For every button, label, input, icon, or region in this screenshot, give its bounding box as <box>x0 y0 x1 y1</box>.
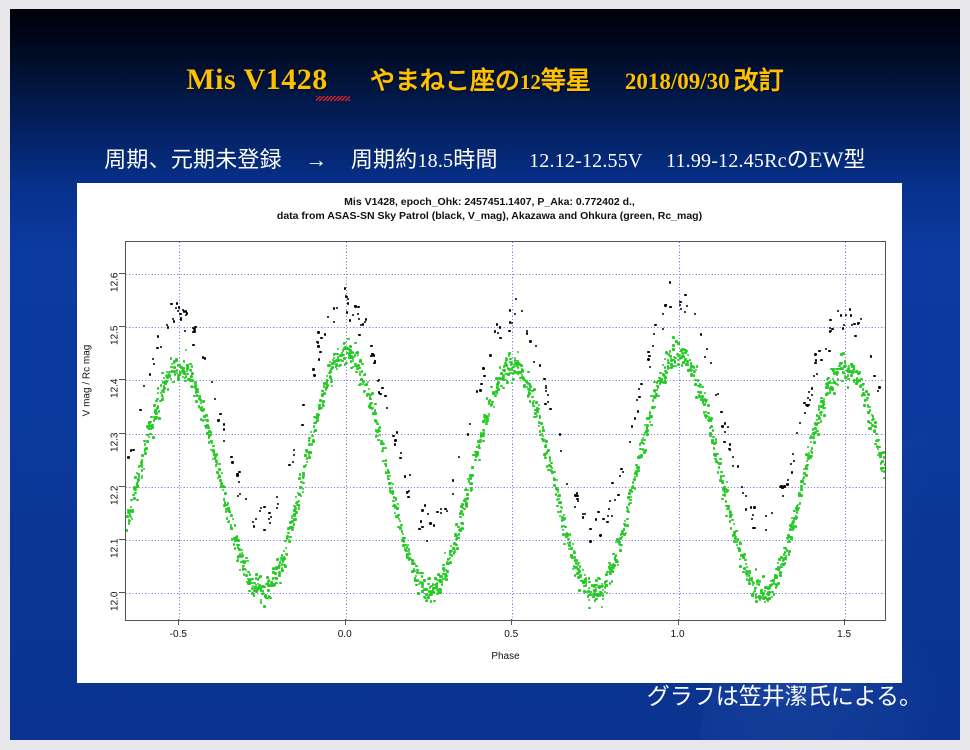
scatter-point <box>126 529 129 532</box>
scatter-point <box>143 468 146 471</box>
scatter-point <box>631 487 634 490</box>
scatter-point <box>810 435 813 438</box>
scatter-point <box>864 399 867 402</box>
scatter-point <box>348 348 351 351</box>
scatter-point <box>785 557 788 560</box>
scatter-point <box>461 522 464 525</box>
scatter-point <box>712 429 715 432</box>
scatter-point <box>394 512 397 515</box>
scatter-point <box>767 591 770 594</box>
scatter-point <box>835 371 838 374</box>
scatter-point <box>755 600 758 603</box>
scatter-point <box>868 411 871 414</box>
scatter-point <box>248 579 251 582</box>
scatter-point <box>361 378 364 381</box>
scatter-point <box>452 479 454 481</box>
scatter-point <box>213 453 216 456</box>
scatter-point <box>364 390 367 393</box>
scatter-point <box>799 422 801 424</box>
scatter-point <box>769 584 772 587</box>
scatter-point <box>569 541 572 544</box>
scatter-point <box>865 390 868 393</box>
scatter-point <box>777 569 780 572</box>
scatter-point <box>716 453 719 456</box>
scatter-point <box>734 531 737 534</box>
scatter-point <box>128 522 131 525</box>
scatter-point <box>258 587 261 590</box>
scatter-point <box>387 475 390 478</box>
scatter-point <box>669 355 672 358</box>
scatter-point <box>389 487 392 490</box>
scatter-point <box>210 449 213 452</box>
scatter-point <box>436 593 439 596</box>
scatter-point <box>740 554 743 557</box>
scatter-point <box>514 371 517 374</box>
scatter-point <box>650 415 653 418</box>
scatter-point <box>850 371 853 374</box>
scatter-point <box>529 385 532 388</box>
scatter-point <box>253 594 256 597</box>
scatter-point <box>609 571 612 574</box>
scatter-point <box>704 356 706 358</box>
scatter-point <box>805 404 807 406</box>
scatter-point <box>430 590 433 593</box>
scatter-point <box>775 568 778 571</box>
scatter-point <box>315 421 318 424</box>
scatter-point <box>645 430 648 433</box>
scatter-point <box>597 586 600 589</box>
scatter-point <box>705 399 708 402</box>
scatter-point <box>329 376 332 379</box>
scatter-point <box>267 589 270 592</box>
scatter-point <box>723 441 725 443</box>
scatter-point <box>803 402 805 404</box>
scatter-point <box>254 582 257 585</box>
scatter-point <box>189 369 192 372</box>
scatter-point <box>476 453 479 456</box>
scatter-point <box>564 526 567 529</box>
scatter-point <box>261 585 264 588</box>
scatter-point <box>134 476 137 479</box>
scatter-point <box>775 586 778 589</box>
scatter-point <box>825 348 827 350</box>
scatter-point <box>338 365 341 368</box>
scatter-point <box>135 476 138 479</box>
scatter-point <box>523 377 526 380</box>
scatter-point <box>272 584 275 587</box>
scatter-point <box>772 580 775 583</box>
scatter-point <box>664 370 667 373</box>
scatter-point <box>362 323 364 325</box>
x-axis-tick-label: 0.5 <box>491 629 531 640</box>
scatter-point <box>182 367 185 370</box>
scatter-point <box>129 515 132 518</box>
scatter-point <box>691 369 694 372</box>
scatter-point <box>208 434 211 437</box>
y-axis-title: V mag / Rc mag <box>82 321 93 441</box>
scatter-point <box>615 541 618 544</box>
scatter-point <box>478 446 481 449</box>
scatter-point <box>248 590 251 593</box>
scatter-point <box>516 364 519 367</box>
scatter-point <box>163 381 166 384</box>
scatter-point <box>765 529 767 531</box>
presentation-slide: Mis V1428 やまねこ座の12等星 2018/09/30 改訂 周期、元期… <box>10 9 960 740</box>
scatter-point <box>875 440 878 443</box>
scatter-point <box>588 577 591 580</box>
scatter-point <box>220 482 223 485</box>
scatter-point <box>245 569 248 572</box>
scatter-point <box>528 388 531 391</box>
scatter-point <box>733 531 736 534</box>
scatter-point <box>447 558 450 561</box>
scatter-point <box>742 556 745 559</box>
scatter-point <box>724 431 726 433</box>
scatter-point <box>263 529 265 531</box>
scatter-point <box>424 588 427 591</box>
scatter-point <box>676 353 679 356</box>
scatter-point <box>356 351 359 354</box>
scatter-point <box>650 424 653 427</box>
scatter-point <box>371 353 373 355</box>
scatter-point <box>195 389 198 392</box>
scatter-point <box>187 366 190 369</box>
scatter-point <box>784 551 787 554</box>
scatter-point <box>725 515 728 518</box>
scatter-point <box>455 544 458 547</box>
scatter-point <box>578 570 581 573</box>
scatter-point <box>665 304 667 306</box>
scatter-point <box>803 483 806 486</box>
scatter-point <box>871 419 874 422</box>
scatter-point <box>442 564 445 567</box>
scatter-point <box>333 353 336 356</box>
scatter-point <box>759 597 762 600</box>
scatter-point <box>615 561 618 564</box>
scatter-point <box>319 351 321 353</box>
scatter-point <box>764 590 767 593</box>
scatter-point <box>405 550 408 553</box>
scatter-point <box>386 407 388 409</box>
scatter-point <box>214 456 217 459</box>
scatter-point <box>699 383 702 386</box>
subtitle-v-range: 12.12-12.55V <box>529 150 643 172</box>
scatter-point <box>822 403 825 406</box>
scatter-point <box>808 391 810 393</box>
scatter-point <box>866 399 869 402</box>
scatter-point <box>191 379 194 382</box>
scatter-point <box>789 528 792 531</box>
scatter-point <box>304 465 307 468</box>
scatter-point <box>512 372 515 375</box>
scatter-point <box>505 379 508 382</box>
scatter-point <box>732 534 735 537</box>
scatter-point <box>177 378 180 381</box>
scatter-point <box>848 365 851 368</box>
scatter-point <box>354 355 357 358</box>
scatter-point <box>544 403 546 405</box>
scatter-point <box>179 371 182 374</box>
scatter-point <box>528 393 531 396</box>
scatter-point <box>208 441 211 444</box>
scatter-point <box>200 407 203 410</box>
scatter-point <box>551 470 554 473</box>
scatter-point <box>544 457 547 460</box>
scatter-point <box>544 454 547 457</box>
scatter-point <box>851 364 854 367</box>
scatter-point <box>148 428 151 431</box>
scatter-point <box>567 535 570 538</box>
scatter-point <box>233 543 236 546</box>
scatter-point <box>345 295 347 297</box>
scatter-point <box>780 564 783 567</box>
scatter-point <box>439 575 442 578</box>
scatter-point <box>444 508 446 510</box>
scatter-point <box>426 599 429 602</box>
scatter-point <box>504 364 507 367</box>
scatter-point <box>484 418 487 421</box>
scatter-point <box>408 557 411 560</box>
scatter-point <box>686 350 689 353</box>
scatter-point <box>282 560 285 563</box>
scatter-point <box>459 512 462 515</box>
scatter-point <box>321 394 324 397</box>
scatter-point <box>808 452 811 455</box>
scatter-point <box>475 451 478 454</box>
scatter-point <box>406 554 409 557</box>
scatter-point <box>388 482 391 485</box>
scatter-point <box>224 492 227 495</box>
scatter-point <box>263 506 265 508</box>
scatter-point <box>560 450 562 452</box>
scatter-point <box>152 358 154 360</box>
scatter-point <box>374 403 377 406</box>
scatter-point <box>786 537 789 540</box>
scatter-point <box>419 581 422 584</box>
scatter-point <box>806 404 808 406</box>
scatter-point <box>430 594 433 597</box>
scatter-point <box>851 371 854 374</box>
scatter-point <box>800 480 803 483</box>
scatter-point <box>291 529 294 532</box>
scatter-point <box>212 445 215 448</box>
scatter-point <box>488 415 491 418</box>
x-axis-tick-mark <box>678 619 679 625</box>
scatter-point <box>157 405 160 408</box>
scatter-point <box>827 377 830 380</box>
scatter-point <box>183 360 186 363</box>
scatter-point <box>499 366 502 369</box>
scatter-point <box>212 451 215 454</box>
scatter-point <box>378 427 381 430</box>
scatter-point <box>873 375 875 377</box>
scatter-point <box>729 515 732 518</box>
scatter-point <box>550 470 553 473</box>
scatter-point <box>224 501 227 504</box>
scatter-point <box>786 549 789 552</box>
scatter-point <box>660 380 663 383</box>
scatter-point <box>287 527 290 530</box>
scatter-point <box>389 475 392 478</box>
scatter-point <box>273 583 276 586</box>
scatter-point <box>482 429 485 432</box>
scatter-point <box>130 506 133 509</box>
scatter-point <box>858 371 861 374</box>
scatter-point <box>234 540 237 543</box>
scatter-point <box>632 485 635 488</box>
scatter-point <box>406 491 408 493</box>
scatter-point <box>662 364 665 367</box>
scatter-point <box>415 584 418 587</box>
scatter-point <box>334 353 337 356</box>
scatter-point <box>316 416 319 419</box>
scatter-point <box>798 492 801 495</box>
scatter-point <box>455 534 458 537</box>
scatter-point <box>392 490 395 493</box>
scatter-point <box>173 370 176 373</box>
scatter-point <box>465 504 468 507</box>
scatter-point <box>649 417 652 420</box>
scatter-point <box>173 362 176 365</box>
scatter-point <box>186 367 189 370</box>
scatter-point <box>785 547 788 550</box>
scatter-point <box>597 511 599 513</box>
scatter-point <box>654 395 657 398</box>
scatter-point <box>800 494 803 497</box>
scatter-point <box>809 437 812 440</box>
scatter-point <box>447 562 450 565</box>
scatter-point <box>497 332 499 334</box>
scatter-point <box>395 515 398 518</box>
scatter-point <box>529 340 531 342</box>
scatter-point <box>733 540 736 543</box>
scatter-point <box>576 572 579 575</box>
scatter-point <box>660 380 663 383</box>
scatter-point <box>374 361 376 363</box>
scatter-point <box>177 310 179 312</box>
scatter-point <box>803 476 806 479</box>
scatter-point <box>667 359 670 362</box>
scatter-point <box>333 321 335 323</box>
scatter-point <box>677 342 680 345</box>
scatter-point <box>289 540 292 543</box>
scatter-point <box>360 378 363 381</box>
scatter-point <box>275 577 278 580</box>
scatter-point <box>154 409 157 412</box>
scatter-point <box>714 454 717 457</box>
scatter-point <box>657 386 660 389</box>
scatter-point <box>630 489 633 492</box>
scatter-point <box>317 331 319 333</box>
scatter-point <box>742 492 744 494</box>
scatter-point <box>355 352 358 355</box>
scatter-point <box>541 433 544 436</box>
scatter-point <box>326 385 329 388</box>
scatter-point <box>439 579 442 582</box>
scatter-point <box>729 448 731 450</box>
scatter-point <box>331 385 334 388</box>
scatter-point <box>796 511 799 514</box>
scatter-point <box>561 525 564 528</box>
scatter-point <box>759 580 762 583</box>
scatter-point <box>465 504 468 507</box>
scatter-point <box>509 309 511 311</box>
scatter-point <box>395 505 398 508</box>
scatter-point <box>774 576 777 579</box>
scatter-point <box>318 407 321 410</box>
scatter-point <box>341 352 344 355</box>
scatter-point <box>649 366 651 368</box>
scatter-point <box>788 536 791 539</box>
scatter-point <box>677 355 680 358</box>
scatter-point <box>170 366 173 369</box>
scatter-point <box>296 504 299 507</box>
scatter-point <box>496 391 499 394</box>
scatter-point <box>640 442 643 445</box>
scatter-point <box>218 463 221 466</box>
scatter-point <box>184 377 187 380</box>
scatter-point <box>495 378 498 381</box>
scatter-point <box>557 498 560 501</box>
scatter-point <box>367 393 370 396</box>
scatter-point <box>449 561 452 564</box>
scatter-point <box>196 390 199 393</box>
scatter-point <box>241 552 244 555</box>
scatter-point <box>406 553 409 556</box>
scatter-point <box>621 530 624 533</box>
scatter-point <box>302 473 305 476</box>
scatter-point <box>322 403 325 406</box>
scatter-point <box>202 400 205 403</box>
scatter-point <box>585 581 588 584</box>
scatter-point <box>725 500 728 503</box>
scatter-point <box>432 590 435 593</box>
scatter-point <box>510 363 513 366</box>
scatter-point <box>638 388 640 390</box>
scatter-point <box>588 587 591 590</box>
scatter-point <box>611 569 614 572</box>
scatter-point <box>813 441 816 444</box>
scatter-point <box>313 440 316 443</box>
scatter-point <box>844 362 847 365</box>
scatter-point <box>404 476 406 478</box>
scatter-point <box>480 434 483 437</box>
scatter-point <box>518 363 521 366</box>
scatter-point <box>617 564 620 567</box>
scatter-point <box>729 514 732 517</box>
scatter-point <box>310 431 313 434</box>
slide-frame: Mis V1428 やまねこ座の12等星 2018/09/30 改訂 周期、元期… <box>0 0 970 750</box>
scatter-point <box>853 379 856 382</box>
scatter-point <box>175 307 177 309</box>
scatter-point <box>406 553 409 556</box>
scatter-point <box>827 386 830 389</box>
scatter-point <box>234 539 237 542</box>
scatter-point <box>358 384 361 387</box>
scatter-point <box>257 583 260 586</box>
scatter-point <box>635 470 638 473</box>
scatter-point <box>763 597 766 600</box>
scatter-point <box>808 404 810 406</box>
scatter-point <box>735 530 738 533</box>
scatter-point <box>562 533 565 536</box>
scatter-point <box>480 432 483 435</box>
scatter-point <box>359 359 362 362</box>
scatter-point <box>408 557 411 560</box>
scatter-point <box>230 456 232 458</box>
scatter-point <box>807 446 810 449</box>
scatter-point <box>580 580 583 583</box>
